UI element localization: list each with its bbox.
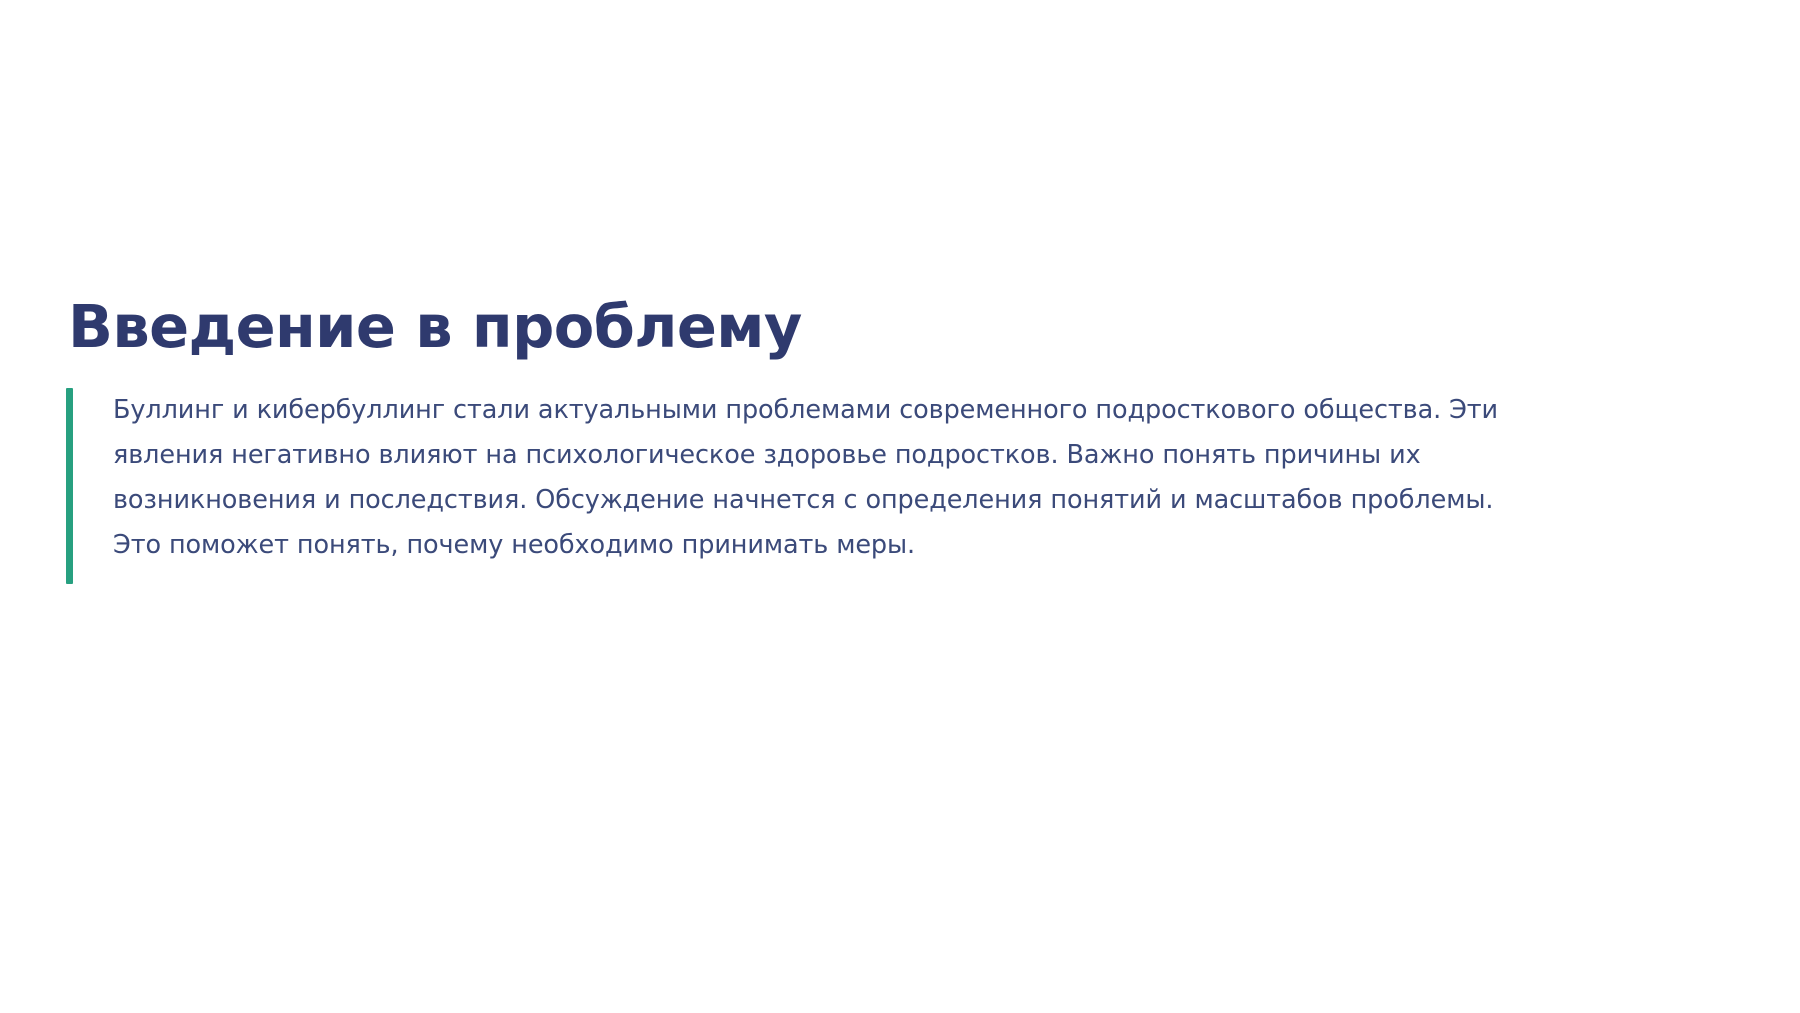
slide-canvas: Введение в проблему Буллинг и кибербулли… <box>0 0 1800 1013</box>
page-title: Введение в проблему <box>68 294 1526 360</box>
accent-bar <box>66 388 73 584</box>
body-paragraph: Буллинг и кибербуллинг стали актуальными… <box>113 388 1525 568</box>
slide-content: Введение в проблему Буллинг и кибербулли… <box>66 294 1526 584</box>
body-block: Буллинг и кибербуллинг стали актуальными… <box>66 388 1526 584</box>
